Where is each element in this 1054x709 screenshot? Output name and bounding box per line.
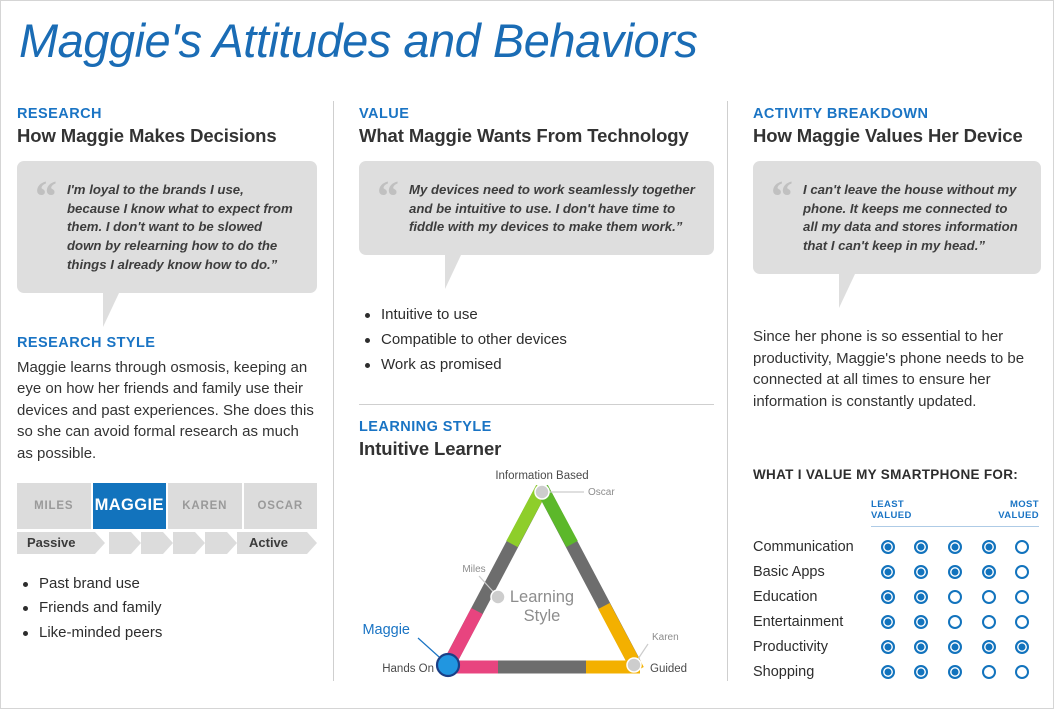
matrix-title: WHAT I VALUE MY SMARTPHONE FOR: (753, 467, 1043, 482)
rating-dot[interactable] (905, 615, 939, 629)
persona-poster: Maggie's Attitudes and Behaviors RESEARC… (0, 0, 1054, 709)
list-item: Intuitive to use (359, 303, 714, 328)
persona-cell-karen[interactable]: KAREN (168, 483, 242, 529)
value-quote-bubble: “ My devices need to work seamlessly tog… (359, 161, 714, 255)
matrix-row-dots (871, 540, 1039, 554)
triangle-center-label-line2: Style (524, 607, 561, 625)
matrix-row-dots (871, 640, 1039, 654)
matrix-row-dots (871, 665, 1039, 679)
rating-dot[interactable] (972, 590, 1006, 604)
persona-cell-maggie[interactable]: MAGGIE (93, 483, 167, 529)
learning-style-headline: Intuitive Learner (359, 438, 726, 460)
rating-dot[interactable] (905, 665, 939, 679)
list-item: Past brand use (17, 572, 317, 597)
rating-dot[interactable] (905, 565, 939, 579)
rating-dot[interactable] (871, 590, 905, 604)
rating-dot[interactable] (938, 640, 972, 654)
activity-headline: How Maggie Values Her Device (753, 125, 1041, 147)
research-quote-text: I'm loyal to the brands I use, because I… (67, 181, 299, 275)
triangle-corner-label-top: Information Based (495, 470, 588, 482)
rating-dot[interactable] (938, 590, 972, 604)
activity-quote-bubble: “ I can't leave the house without my pho… (753, 161, 1041, 274)
rating-dot[interactable] (905, 540, 939, 554)
rating-dot[interactable] (972, 540, 1006, 554)
column-divider-right (727, 101, 728, 681)
marker-label-oscar: Oscar (588, 487, 615, 498)
matrix-row-label: Communication (753, 539, 871, 555)
value-headline: What Maggie Wants From Technology (359, 125, 714, 147)
triangle-center-label-line1: Learning (510, 588, 574, 606)
rating-dot[interactable] (938, 615, 972, 629)
rating-dot[interactable] (938, 665, 972, 679)
list-item: Friends and family (17, 596, 317, 621)
column-value: VALUE What Maggie Wants From Technology … (359, 106, 714, 377)
marker-label-karen: Karen (652, 632, 679, 643)
learning-style-eyebrow: LEARNING STYLE (359, 419, 726, 435)
marker-karen[interactable] (627, 658, 641, 672)
marker-label-miles: Miles (462, 564, 485, 575)
research-headline: How Maggie Makes Decisions (17, 125, 317, 147)
list-item: Work as promised (359, 353, 714, 378)
matrix-label-least-valued: LEASTVALUED (871, 500, 912, 522)
matrix-row: Basic Apps (753, 559, 1043, 584)
persona-scale: MILES MAGGIE KAREN OSCAR Passive Active (17, 483, 317, 554)
matrix-label-most-valued: MOSTVALUED (998, 500, 1039, 522)
marker-maggie[interactable] (437, 654, 459, 676)
research-style-text: Maggie learns through osmosis, keeping a… (17, 357, 317, 465)
matrix-row-label: Entertainment (753, 614, 871, 630)
rating-dot[interactable] (1005, 615, 1039, 629)
learning-style-divider (359, 404, 714, 405)
matrix-row-label: Basic Apps (753, 564, 871, 580)
matrix-row: Communication (753, 534, 1043, 559)
rating-dot[interactable] (972, 565, 1006, 579)
smartphone-value-matrix: WHAT I VALUE MY SMARTPHONE FOR: LEASTVAL… (753, 467, 1043, 684)
column-activity-breakdown: ACTIVITY BREAKDOWN How Maggie Values Her… (753, 106, 1041, 412)
rating-dot[interactable] (871, 565, 905, 579)
value-quote-text: My devices need to work seamlessly toget… (409, 181, 696, 237)
rating-dot[interactable] (1005, 565, 1039, 579)
marker-miles[interactable] (491, 590, 505, 604)
learning-style-chart: LEARNING STYLE Intuitive Learner Learnin… (346, 419, 726, 686)
activity-quote-text: I can't leave the house without my phone… (803, 181, 1023, 256)
activity-eyebrow: ACTIVITY BREAKDOWN (753, 106, 1041, 122)
bubble-tail (839, 274, 855, 308)
marker-label-maggie: Maggie (362, 622, 410, 638)
research-eyebrow: RESEARCH (17, 106, 317, 122)
rating-dot[interactable] (972, 665, 1006, 679)
marker-oscar[interactable] (535, 485, 549, 499)
persona-cell-oscar[interactable]: OSCAR (244, 483, 318, 529)
value-bullets: Intuitive to use Compatible to other dev… (359, 303, 714, 377)
rating-dot[interactable] (1005, 590, 1039, 604)
triangle-corner-label-right: Guided (650, 663, 687, 675)
bubble-tail (103, 293, 119, 327)
rating-dot[interactable] (972, 615, 1006, 629)
rating-dot[interactable] (972, 640, 1006, 654)
rating-dot[interactable] (871, 540, 905, 554)
rating-dot[interactable] (905, 590, 939, 604)
matrix-rule (871, 526, 1039, 527)
passive-active-arrow-bar: Passive Active (17, 532, 317, 554)
matrix-row: Entertainment (753, 609, 1043, 634)
research-quote-bubble: “ I'm loyal to the brands I use, because… (17, 161, 317, 293)
quote-mark-icon: “ (771, 181, 793, 256)
list-item: Compatible to other devices (359, 328, 714, 353)
learning-style-triangle-svg: Learning Style Information Based Hands O… (346, 466, 726, 686)
matrix-row: Shopping (753, 659, 1043, 684)
scale-label-active: Active (249, 532, 288, 554)
rating-dot[interactable] (938, 565, 972, 579)
rating-dot[interactable] (871, 615, 905, 629)
research-style-eyebrow: RESEARCH STYLE (17, 335, 317, 351)
matrix-row-label: Education (753, 589, 871, 605)
rating-dot[interactable] (1005, 640, 1039, 654)
matrix-row-dots (871, 615, 1039, 629)
matrix-row-dots (871, 590, 1039, 604)
matrix-row: Education (753, 584, 1043, 609)
rating-dot[interactable] (938, 540, 972, 554)
column-research: RESEARCH How Maggie Makes Decisions “ I'… (17, 106, 317, 646)
matrix-row-dots (871, 565, 1039, 579)
matrix-row: Productivity (753, 634, 1043, 659)
activity-body-text: Since her phone is so essential to her p… (753, 326, 1041, 412)
matrix-scale-header: LEASTVALUED MOSTVALUED (871, 500, 1039, 526)
column-divider-left (333, 101, 334, 681)
rating-dot[interactable] (871, 665, 905, 679)
rating-dot[interactable] (1005, 665, 1039, 679)
bubble-tail (445, 255, 461, 289)
rating-dot[interactable] (1005, 540, 1039, 554)
matrix-row-label: Productivity (753, 639, 871, 655)
value-eyebrow: VALUE (359, 106, 714, 122)
quote-mark-icon: “ (377, 181, 399, 237)
persona-scale-row: MILES MAGGIE KAREN OSCAR (17, 483, 317, 529)
persona-cell-miles[interactable]: MILES (17, 483, 91, 529)
research-bullets: Past brand use Friends and family Like-m… (17, 572, 317, 646)
rating-dot[interactable] (871, 640, 905, 654)
matrix-row-label: Shopping (753, 664, 871, 680)
page-title: Maggie's Attitudes and Behaviors (19, 13, 697, 68)
quote-mark-icon: “ (35, 181, 57, 275)
list-item: Like-minded peers (17, 621, 317, 646)
rating-dot[interactable] (905, 640, 939, 654)
triangle-corner-label-left: Hands On (382, 663, 434, 675)
scale-label-passive: Passive (27, 532, 75, 554)
